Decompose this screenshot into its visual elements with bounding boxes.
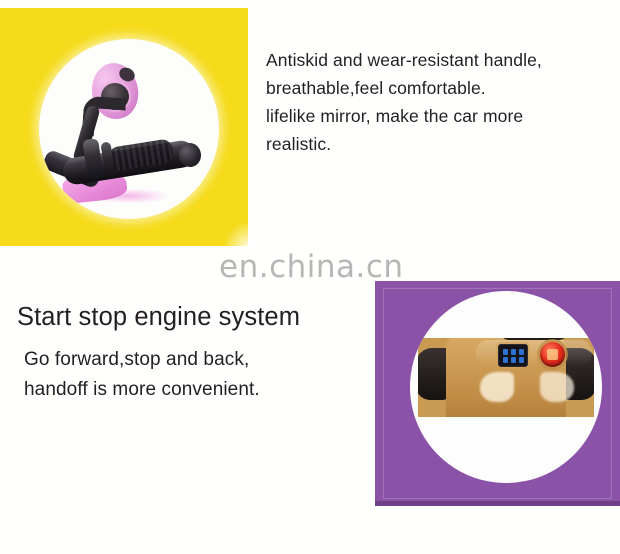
red-start-stop-button (540, 342, 565, 367)
handle-feature-description: Antiskid and wear-resistant handle, brea… (266, 46, 610, 158)
engine-console-photo (410, 291, 602, 483)
switch-indicator-2 (511, 349, 516, 355)
switch-indicator-4 (503, 357, 508, 363)
console-left-highlight-shape (480, 372, 514, 402)
handle-product-photo (39, 39, 219, 219)
handle-description-line-4: realistic. (266, 130, 610, 158)
switch-indicator-5 (511, 357, 516, 363)
product-feature-infographic: Antiskid and wear-resistant handle, brea… (0, 0, 620, 554)
console-right-highlight-shape (540, 372, 574, 402)
rocker-switch-panel (498, 344, 528, 367)
engine-feature-panel (375, 281, 620, 506)
switch-indicator-1 (503, 349, 508, 355)
switch-indicator-6 (519, 357, 524, 363)
console-body-shape (446, 338, 566, 417)
start-stop-button-glyph (547, 349, 558, 360)
handle-feature-panel (0, 8, 248, 246)
engine-feature-heading: Start stop engine system (17, 301, 300, 333)
engine-description-line-2: handoff is more convenient. (24, 375, 364, 405)
switch-indicator-3 (519, 349, 524, 355)
handle-description-line-3: lifelike mirror, make the car more (266, 102, 610, 130)
engine-description-line-1: Go forward,stop and back, (24, 345, 364, 375)
handle-description-line-2: breathable,feel comfortable. (266, 74, 610, 102)
console-photo-frame (418, 338, 594, 417)
console-top-trim-shape (498, 338, 570, 340)
engine-feature-description: Go forward,stop and back, handoff is mor… (24, 345, 364, 405)
handle-description-line-1: Antiskid and wear-resistant handle, (266, 46, 610, 74)
